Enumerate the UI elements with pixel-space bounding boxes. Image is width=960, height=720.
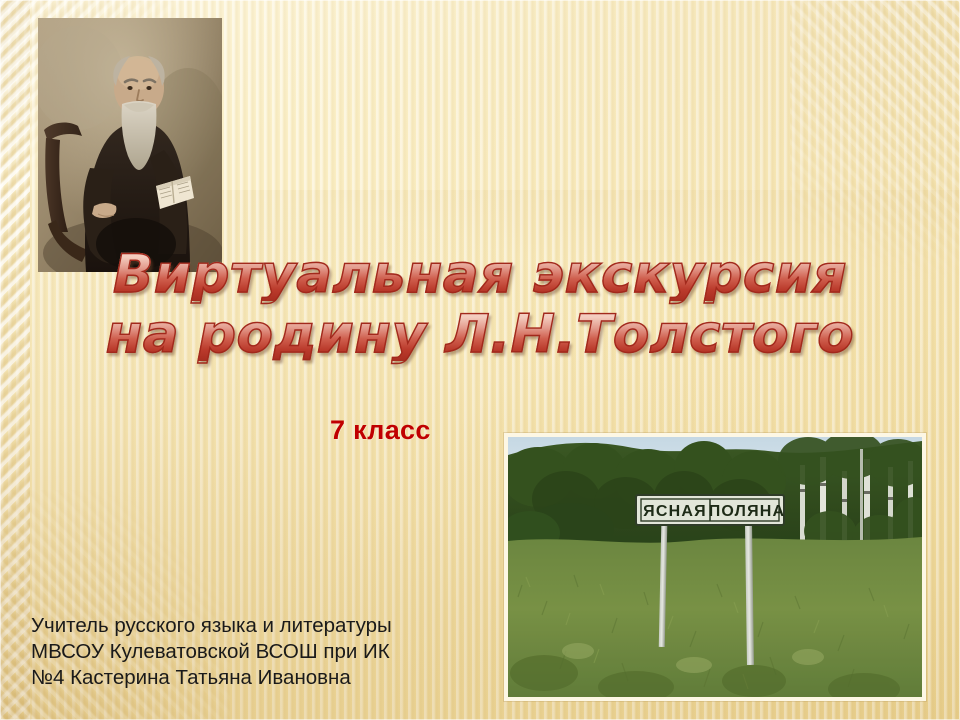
presentation-slide: Виртуальная экскурсия на родину Л.Н.Толс… <box>0 0 960 720</box>
author-line-2: МВСОУ Кулеватовской ВСОШ при ИК <box>31 639 491 665</box>
author-credit: Учитель русского языка и литературы МВСО… <box>31 613 491 691</box>
photo-yasnaya-polyana-graphic: ЯСНАЯ ПОЛЯНА <box>508 437 922 697</box>
photo-yasnaya-polyana: ЯСНАЯ ПОЛЯНА <box>504 433 926 701</box>
portrait-tolstoy-image <box>38 18 222 272</box>
photo-yasnaya-polyana-inner: ЯСНАЯ ПОЛЯНА <box>508 437 922 697</box>
portrait-tolstoy-graphic <box>38 18 222 272</box>
author-line-1: Учитель русского языка и литературы <box>31 613 491 639</box>
author-line-3: №4 Кастерина Татьяна Ивановна <box>31 665 491 691</box>
grade-label: 7 класс <box>330 415 431 446</box>
